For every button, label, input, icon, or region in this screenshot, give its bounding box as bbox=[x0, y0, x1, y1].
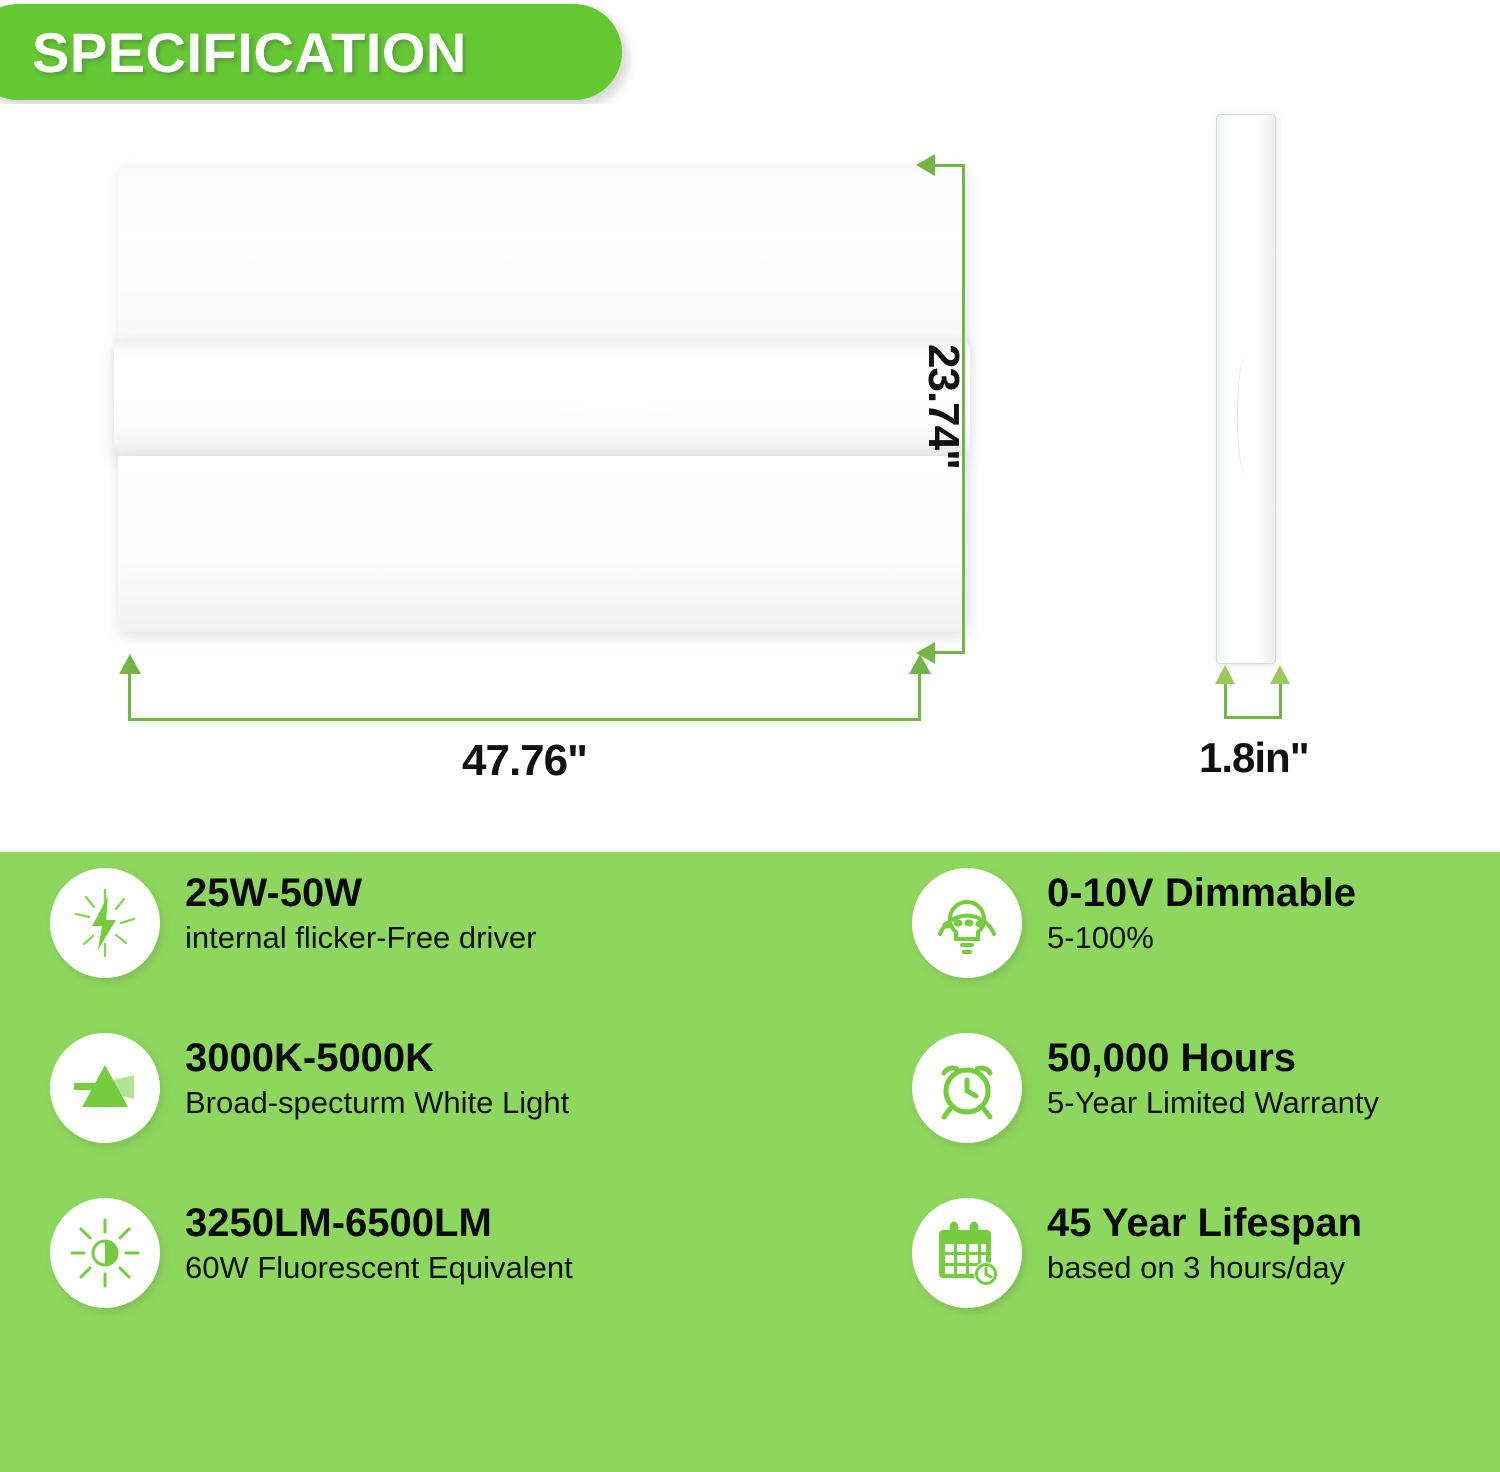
feature-title: 50,000 Hours bbox=[1047, 1037, 1379, 1079]
feature-item-lumens: 3250LM-6500LM 60W Fluorescent Equivalent bbox=[50, 1182, 573, 1347]
feature-subtitle: 5-Year Limited Warranty bbox=[1047, 1086, 1379, 1120]
panel-lens-hotspot bbox=[525, 378, 705, 422]
calendar-clock-icon bbox=[912, 1198, 1022, 1308]
feature-text-lifespan-years: 45 Year Lifespan based on 3 hours/day bbox=[1047, 1182, 1362, 1285]
feature-title: 25W-50W bbox=[185, 872, 536, 914]
feature-subtitle: Broad-specturm White Light bbox=[185, 1086, 569, 1120]
feature-item-color-temperature: 3000K-5000K Broad-specturm White Light bbox=[50, 1017, 573, 1182]
panel-bottom-face bbox=[118, 456, 966, 632]
depth-arrow-left-icon bbox=[1215, 665, 1235, 684]
feature-column-left: 25W-50W internal flicker-Free driver 300… bbox=[50, 852, 573, 1347]
feature-text-dimmable: 0-10V Dimmable 5-100% bbox=[1047, 852, 1356, 955]
feature-column-right: 0-10V Dimmable 5-100% 50,000 Hours 5-Yea… bbox=[912, 852, 1379, 1347]
panel-side-highlight bbox=[1237, 355, 1254, 475]
alarm-clock-icon bbox=[912, 1033, 1022, 1143]
led-troffer-front-view bbox=[118, 168, 966, 632]
width-arrow-right-icon bbox=[909, 654, 931, 674]
product-diagram-area: 23.74" 47.76" 1.8in" bbox=[0, 104, 1500, 852]
feature-subtitle: internal flicker-Free driver bbox=[185, 921, 536, 955]
width-dimension-left-riser bbox=[128, 672, 131, 720]
panel-lens-band bbox=[114, 340, 970, 460]
depth-dimension-left-riser bbox=[1224, 682, 1227, 718]
width-dimension-label: 47.76" bbox=[462, 736, 587, 786]
dimmable-bulb-icon bbox=[912, 868, 1022, 978]
led-troffer-side-view bbox=[1216, 114, 1276, 664]
prism-spectrum-icon bbox=[50, 1033, 160, 1143]
feature-title: 45 Year Lifespan bbox=[1047, 1202, 1362, 1244]
width-arrow-left-icon bbox=[119, 654, 141, 674]
panel-lens-gloss bbox=[144, 362, 940, 388]
feature-subtitle: 5-100% bbox=[1047, 921, 1356, 955]
panel-top-face bbox=[118, 168, 966, 358]
lightning-bolt-icon bbox=[50, 868, 160, 978]
width-dimension-right-riser bbox=[918, 672, 921, 720]
feature-text-color-temperature: 3000K-5000K Broad-specturm White Light bbox=[185, 1017, 569, 1120]
width-dimension-line bbox=[128, 718, 921, 721]
brightness-sun-icon bbox=[50, 1198, 160, 1308]
feature-subtitle: based on 3 hours/day bbox=[1047, 1251, 1362, 1285]
height-arrow-top-icon bbox=[916, 154, 935, 176]
depth-dimension-label: 1.8in" bbox=[1199, 734, 1309, 782]
feature-item-wattage: 25W-50W internal flicker-Free driver bbox=[50, 852, 573, 1017]
specification-banner: SPECIFICATION bbox=[0, 4, 622, 100]
depth-dimension-right-riser bbox=[1279, 682, 1282, 718]
specification-banner-label: SPECIFICATION bbox=[32, 20, 467, 85]
height-dimension-label: 23.74" bbox=[918, 344, 968, 469]
feature-item-dimmable: 0-10V Dimmable 5-100% bbox=[912, 852, 1379, 1017]
depth-arrow-right-icon bbox=[1270, 665, 1290, 684]
feature-text-wattage: 25W-50W internal flicker-Free driver bbox=[185, 852, 536, 955]
feature-specs-section: 25W-50W internal flicker-Free driver 300… bbox=[0, 852, 1500, 1472]
feature-title: 3250LM-6500LM bbox=[185, 1202, 573, 1244]
feature-title: 3000K-5000K bbox=[185, 1037, 569, 1079]
feature-text-lifetime-hours: 50,000 Hours 5-Year Limited Warranty bbox=[1047, 1017, 1379, 1120]
feature-text-lumens: 3250LM-6500LM 60W Fluorescent Equivalent bbox=[185, 1182, 573, 1285]
feature-subtitle: 60W Fluorescent Equivalent bbox=[185, 1251, 573, 1285]
depth-dimension-line bbox=[1224, 716, 1282, 719]
feature-item-lifetime-hours: 50,000 Hours 5-Year Limited Warranty bbox=[912, 1017, 1379, 1182]
feature-title: 0-10V Dimmable bbox=[1047, 872, 1356, 914]
feature-item-lifespan-years: 45 Year Lifespan based on 3 hours/day bbox=[912, 1182, 1379, 1347]
